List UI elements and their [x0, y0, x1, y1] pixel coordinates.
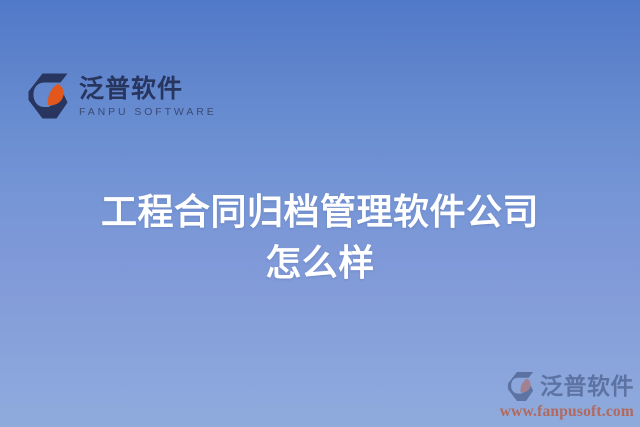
fanpu-hexagon-logo-icon: [506, 371, 535, 402]
brand-name-en: FANPU SOFTWARE: [79, 107, 217, 118]
watermark: 泛普软件 www.fanpusoft.com: [486, 371, 634, 421]
page-title-line-1: 工程合同归档管理软件公司: [0, 186, 640, 237]
brand-logo[interactable]: 泛普软件 FANPU SOFTWARE: [26, 72, 217, 120]
watermark-url: www.fanpusoft.com: [486, 403, 634, 421]
watermark-logo: 泛普软件: [486, 371, 634, 402]
fanpu-hexagon-logo-icon: [26, 72, 70, 120]
brand-wordmark: 泛普软件 FANPU SOFTWARE: [79, 75, 217, 118]
brand-name-cn: 泛普软件: [79, 75, 217, 103]
watermark-name-cn: 泛普软件: [540, 375, 634, 398]
promo-banner: 泛普软件 FANPU SOFTWARE 工程合同归档管理软件公司 怎么样 泛普软…: [0, 0, 640, 427]
page-title-line-2: 怎么样: [0, 237, 640, 288]
page-title: 工程合同归档管理软件公司 怎么样: [0, 186, 640, 288]
